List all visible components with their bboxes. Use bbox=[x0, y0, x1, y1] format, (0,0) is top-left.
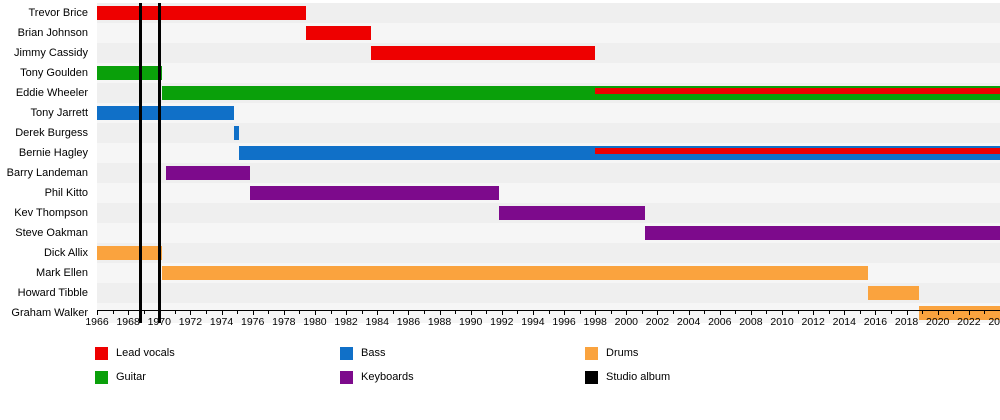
x-axis-tick-label: 1970 bbox=[148, 316, 171, 328]
x-axis-tick-label: 1992 bbox=[490, 316, 513, 328]
x-axis-tick bbox=[564, 310, 565, 315]
x-axis-minor-tick bbox=[829, 310, 830, 314]
timeline-row: Dick Allix bbox=[0, 243, 1000, 263]
x-axis-tick-label: 1966 bbox=[85, 316, 108, 328]
x-axis-minor-tick bbox=[673, 310, 674, 314]
x-axis-tick bbox=[657, 310, 658, 315]
member-name-label: Howard Tibble bbox=[0, 283, 92, 303]
x-axis-tick bbox=[751, 310, 752, 315]
x-axis-minor-tick bbox=[798, 310, 799, 314]
x-axis-tick-label: 2018 bbox=[895, 316, 918, 328]
timeline-track bbox=[97, 183, 1000, 203]
legend-swatch-icon bbox=[340, 371, 353, 384]
member-name-label: Steve Oakman bbox=[0, 223, 92, 243]
timeline-row: Tony Goulden bbox=[0, 63, 1000, 83]
member-name-label: Jimmy Cassidy bbox=[0, 43, 92, 63]
x-axis-minor-tick bbox=[984, 310, 985, 314]
timeline-row: Mark Ellen bbox=[0, 263, 1000, 283]
x-axis-minor-tick bbox=[953, 310, 954, 314]
timeline-bar bbox=[234, 126, 239, 140]
x-axis-minor-tick bbox=[704, 310, 705, 314]
timeline-track bbox=[97, 83, 1000, 103]
member-name-label: Dick Allix bbox=[0, 243, 92, 263]
member-name-label: Barry Landeman bbox=[0, 163, 92, 183]
legend-swatch-icon bbox=[585, 347, 598, 360]
x-axis-minor-tick bbox=[268, 310, 269, 314]
legend-swatch-icon bbox=[95, 371, 108, 384]
timeline-row: Phil Kitto bbox=[0, 183, 1000, 203]
legend-item: Studio album bbox=[585, 369, 670, 385]
timeline-bar bbox=[97, 66, 162, 80]
timeline-track bbox=[97, 63, 1000, 83]
timeline-bar-stripe bbox=[595, 88, 1000, 94]
x-axis-tick-label: 1972 bbox=[179, 316, 202, 328]
legend-item: Drums bbox=[585, 345, 638, 361]
x-axis-tick bbox=[253, 310, 254, 315]
member-name-label: Derek Burgess bbox=[0, 123, 92, 143]
x-axis-tick-label: 2020 bbox=[926, 316, 949, 328]
x-axis-tick-label: 1974 bbox=[210, 316, 233, 328]
timeline-track bbox=[97, 43, 1000, 63]
x-axis-tick bbox=[875, 310, 876, 315]
x-axis-tick bbox=[471, 310, 472, 315]
band-timeline-chart: Trevor BriceBrian JohnsonJimmy CassidyTo… bbox=[0, 0, 1000, 420]
x-axis-minor-tick bbox=[486, 310, 487, 314]
x-axis-tick bbox=[377, 310, 378, 315]
x-axis-minor-tick bbox=[299, 310, 300, 314]
x-axis-tick-label: 1990 bbox=[459, 316, 482, 328]
x-axis-tick-label: 2012 bbox=[801, 316, 824, 328]
timeline-bar bbox=[306, 26, 371, 40]
x-axis-minor-tick bbox=[517, 310, 518, 314]
legend-swatch-icon bbox=[95, 347, 108, 360]
studio-album-marker bbox=[158, 3, 161, 323]
legend-label: Keyboards bbox=[361, 371, 414, 383]
timeline-track bbox=[97, 283, 1000, 303]
timeline-row: Eddie Wheeler bbox=[0, 83, 1000, 103]
x-axis-minor-tick bbox=[455, 310, 456, 314]
x-axis-tick-label: 2010 bbox=[770, 316, 793, 328]
x-axis-tick bbox=[938, 310, 939, 315]
x-axis-minor-tick bbox=[362, 310, 363, 314]
chart-legend: Lead vocalsGuitarBassKeyboardsDrumsStudi… bbox=[0, 345, 1000, 405]
x-axis-minor-tick bbox=[580, 310, 581, 314]
timeline-row: Steve Oakman bbox=[0, 223, 1000, 243]
x-axis-minor-tick bbox=[144, 310, 145, 314]
x-axis-tick bbox=[284, 310, 285, 315]
x-axis-tick-label: 1998 bbox=[584, 316, 607, 328]
timeline-track bbox=[97, 263, 1000, 283]
x-axis-tick bbox=[346, 310, 347, 315]
x-axis-tick bbox=[128, 310, 129, 315]
timeline-track bbox=[97, 143, 1000, 163]
timeline-track bbox=[97, 243, 1000, 263]
timeline-bar bbox=[97, 6, 306, 20]
chart-plot-area: Trevor BriceBrian JohnsonJimmy CassidyTo… bbox=[0, 0, 1000, 310]
timeline-row: Trevor Brice bbox=[0, 3, 1000, 23]
x-axis-minor-tick bbox=[113, 310, 114, 314]
x-axis-tick bbox=[813, 310, 814, 315]
x-axis-minor-tick bbox=[424, 310, 425, 314]
x-axis-tick bbox=[595, 310, 596, 315]
member-name-label: Brian Johnson bbox=[0, 23, 92, 43]
legend-label: Lead vocals bbox=[116, 347, 175, 359]
member-name-label: Tony Goulden bbox=[0, 63, 92, 83]
timeline-track bbox=[97, 3, 1000, 23]
timeline-track bbox=[97, 23, 1000, 43]
x-axis-minor-tick bbox=[331, 310, 332, 314]
legend-item: Lead vocals bbox=[95, 345, 175, 361]
member-name-label: Phil Kitto bbox=[0, 183, 92, 203]
legend-swatch-icon bbox=[340, 347, 353, 360]
timeline-bar bbox=[371, 46, 595, 60]
timeline-track bbox=[97, 163, 1000, 183]
timeline-row: Howard Tibble bbox=[0, 283, 1000, 303]
legend-label: Drums bbox=[606, 347, 638, 359]
timeline-bar bbox=[499, 206, 645, 220]
x-axis-tick-label: 1968 bbox=[116, 316, 139, 328]
timeline-track bbox=[97, 123, 1000, 143]
studio-album-marker bbox=[139, 3, 142, 323]
x-axis-tick bbox=[97, 310, 98, 315]
x-axis-tick-label: 2016 bbox=[864, 316, 887, 328]
timeline-bar bbox=[162, 266, 867, 280]
timeline-bar-stripe bbox=[595, 148, 1000, 154]
x-axis-minor-tick bbox=[393, 310, 394, 314]
x-axis-tick bbox=[907, 310, 908, 315]
x-axis-tick bbox=[533, 310, 534, 315]
x-axis-tick bbox=[969, 310, 970, 315]
x-axis-tick-label: 1988 bbox=[428, 316, 451, 328]
member-name-label: Graham Walker bbox=[0, 303, 92, 323]
x-axis-tick-label: 2022 bbox=[957, 316, 980, 328]
timeline-bar bbox=[166, 166, 250, 180]
x-axis-minor-tick bbox=[237, 310, 238, 314]
x-axis-minor-tick bbox=[860, 310, 861, 314]
x-axis-tick-label: 1996 bbox=[552, 316, 575, 328]
x-axis-tick-label: 1978 bbox=[272, 316, 295, 328]
x-axis-minor-tick bbox=[922, 310, 923, 314]
legend-swatch-icon bbox=[585, 371, 598, 384]
timeline-bar bbox=[250, 186, 499, 200]
x-axis-minor-tick bbox=[611, 310, 612, 314]
x-axis: 1966196819701972197419761978198019821984… bbox=[97, 310, 1000, 340]
x-axis-tick-label: 1994 bbox=[521, 316, 544, 328]
x-axis-tick-label: 1984 bbox=[366, 316, 389, 328]
timeline-row: Jimmy Cassidy bbox=[0, 43, 1000, 63]
member-name-label: Trevor Brice bbox=[0, 3, 92, 23]
x-axis-tick-label: 2006 bbox=[708, 316, 731, 328]
x-axis-tick bbox=[782, 310, 783, 315]
x-axis-tick bbox=[315, 310, 316, 315]
timeline-track bbox=[97, 223, 1000, 243]
x-axis-minor-tick bbox=[206, 310, 207, 314]
timeline-bar bbox=[645, 226, 1000, 240]
member-name-label: Mark Ellen bbox=[0, 263, 92, 283]
x-axis-tick bbox=[626, 310, 627, 315]
x-axis-minor-tick bbox=[642, 310, 643, 314]
timeline-row: Derek Burgess bbox=[0, 123, 1000, 143]
x-axis-tick bbox=[720, 310, 721, 315]
x-axis-tick-label: 1982 bbox=[334, 316, 357, 328]
member-name-label: Eddie Wheeler bbox=[0, 83, 92, 103]
timeline-row: Brian Johnson bbox=[0, 23, 1000, 43]
legend-item: Bass bbox=[340, 345, 385, 361]
x-axis-tick bbox=[689, 310, 690, 315]
x-axis-minor-tick bbox=[891, 310, 892, 314]
x-axis-tick-label: 2004 bbox=[677, 316, 700, 328]
x-axis-tick bbox=[502, 310, 503, 315]
legend-label: Bass bbox=[361, 347, 385, 359]
x-axis-minor-tick bbox=[549, 310, 550, 314]
x-axis-tick-label: 1980 bbox=[303, 316, 326, 328]
x-axis-minor-tick bbox=[766, 310, 767, 314]
x-axis-tick bbox=[190, 310, 191, 315]
legend-label: Studio album bbox=[606, 371, 670, 383]
x-axis-tick-label: 2014 bbox=[833, 316, 856, 328]
x-axis-tick-label: 2008 bbox=[739, 316, 762, 328]
legend-item: Keyboards bbox=[340, 369, 414, 385]
x-axis-tick-label: 1976 bbox=[241, 316, 264, 328]
x-axis-tick-label: 2024 bbox=[988, 316, 1000, 328]
x-axis-minor-tick bbox=[175, 310, 176, 314]
x-axis-tick bbox=[222, 310, 223, 315]
x-axis-tick bbox=[844, 310, 845, 315]
x-axis-minor-tick bbox=[735, 310, 736, 314]
member-name-label: Bernie Hagley bbox=[0, 143, 92, 163]
timeline-row: Tony Jarrett bbox=[0, 103, 1000, 123]
x-axis-tick bbox=[159, 310, 160, 315]
x-axis-tick-label: 2002 bbox=[646, 316, 669, 328]
member-name-label: Tony Jarrett bbox=[0, 103, 92, 123]
timeline-track bbox=[97, 203, 1000, 223]
timeline-row: Bernie Hagley bbox=[0, 143, 1000, 163]
member-name-label: Kev Thompson bbox=[0, 203, 92, 223]
x-axis-tick bbox=[440, 310, 441, 315]
legend-item: Guitar bbox=[95, 369, 146, 385]
timeline-row: Kev Thompson bbox=[0, 203, 1000, 223]
timeline-bar bbox=[868, 286, 919, 300]
x-axis-tick-label: 2000 bbox=[615, 316, 638, 328]
timeline-bar bbox=[97, 246, 162, 260]
timeline-row: Barry Landeman bbox=[0, 163, 1000, 183]
x-axis-tick-label: 1986 bbox=[397, 316, 420, 328]
timeline-track bbox=[97, 103, 1000, 123]
legend-label: Guitar bbox=[116, 371, 146, 383]
x-axis-tick bbox=[408, 310, 409, 315]
timeline-bar bbox=[97, 106, 234, 120]
